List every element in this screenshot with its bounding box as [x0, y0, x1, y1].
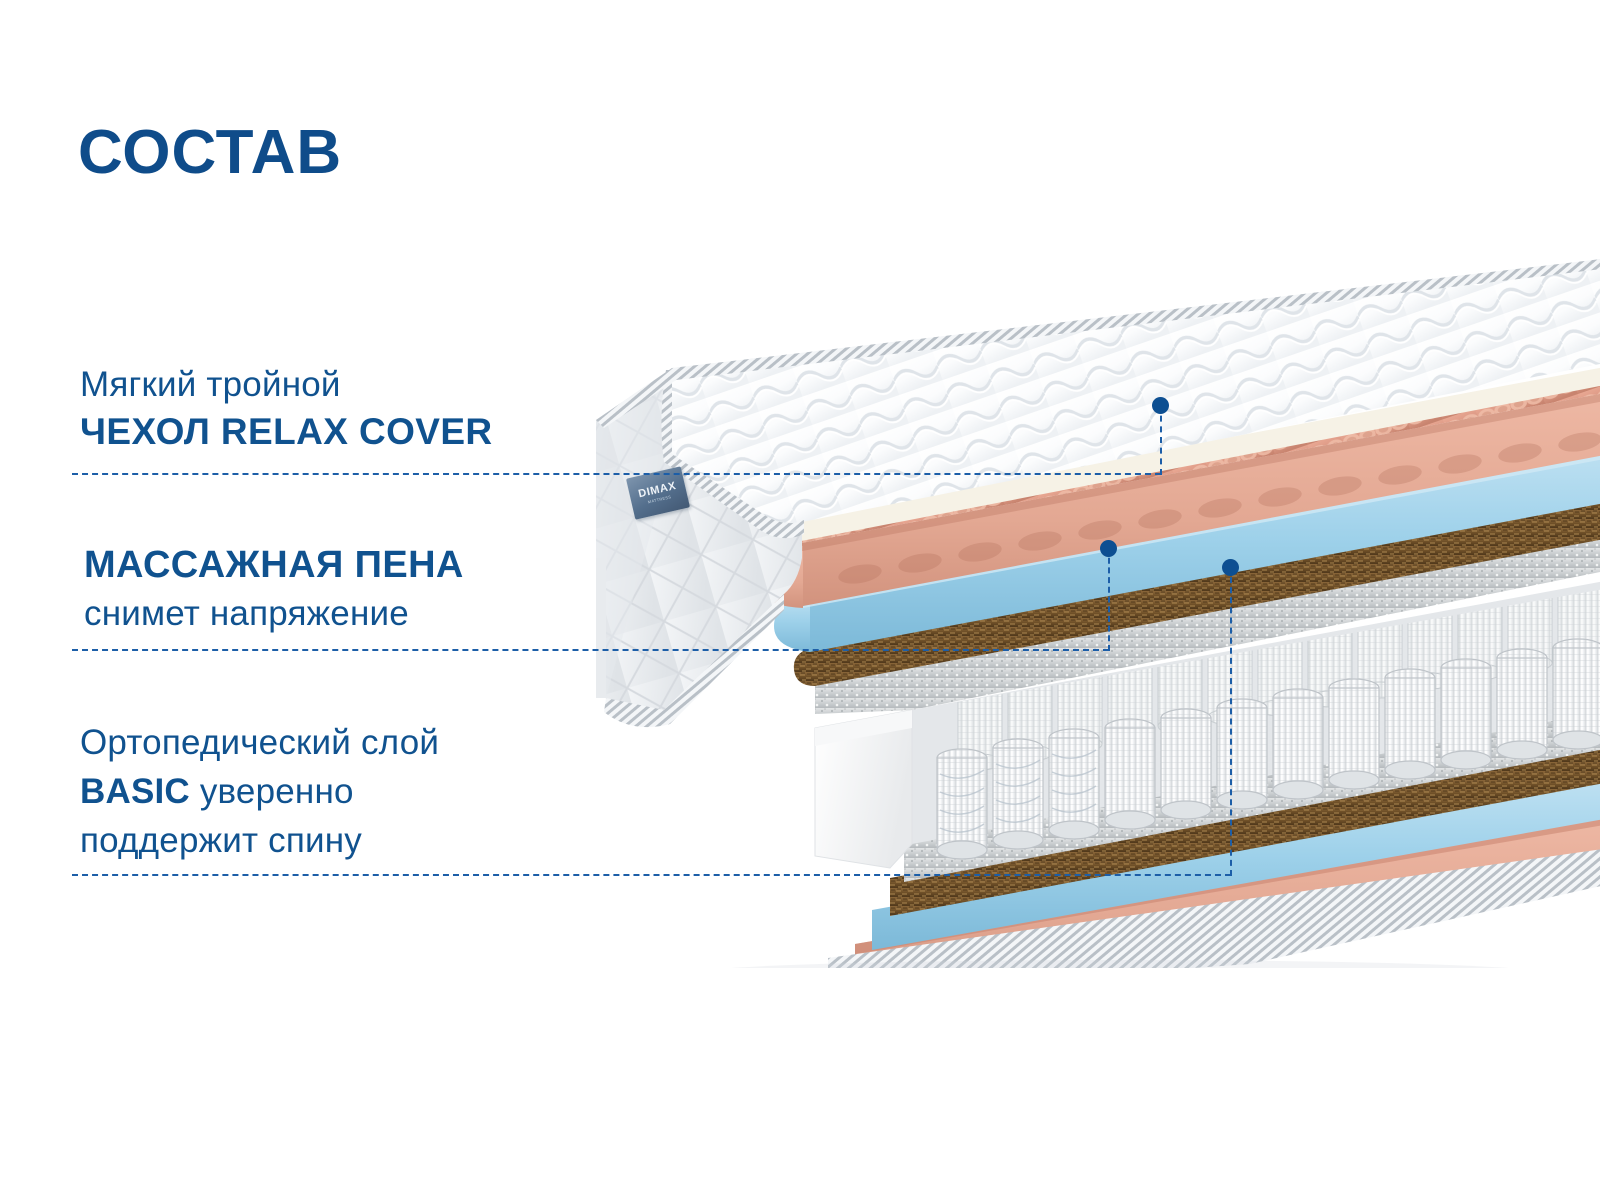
callout-dot-basic — [1222, 559, 1239, 576]
callout-basic-line2: BASIC уверенно — [80, 767, 439, 816]
leader-line-basic-vertical — [1230, 567, 1232, 876]
leader-line-foam-vertical — [1108, 548, 1110, 651]
callout-massage-foam: МАССАЖНАЯ ПЕНА снимет напряжение — [84, 540, 464, 638]
callout-cover-line2: ЧЕХОЛ RELAX COVER — [80, 408, 493, 456]
callout-basic-emphasis: BASIC — [80, 772, 190, 811]
callout-basic-line2-rest: уверенно — [190, 772, 354, 811]
callout-basic-line1: Ортопедический слой — [80, 718, 439, 767]
callout-foam-line2: снимет напряжение — [84, 590, 464, 638]
callout-cover: Мягкий тройной ЧЕХОЛ RELAX COVER — [80, 362, 493, 456]
callout-foam-line1: МАССАЖНАЯ ПЕНА — [84, 540, 464, 590]
poster-canvas: СОСТАВ — [0, 0, 1600, 1200]
leader-line-cover-vertical — [1160, 405, 1162, 475]
leader-line-cover-horizontal — [72, 473, 1161, 475]
leader-line-basic-horizontal — [72, 874, 1231, 876]
callout-dot-foam — [1100, 540, 1117, 557]
callout-basic-line3: поддержит спину — [80, 816, 439, 865]
leader-line-foam-horizontal — [72, 649, 1109, 651]
mattress-cutaway-illustration — [560, 258, 1600, 968]
callout-dot-cover — [1152, 397, 1169, 414]
callout-basic-layer: Ортопедический слой BASIC уверенно подде… — [80, 718, 439, 865]
page-title: СОСТАВ — [78, 122, 342, 184]
callout-cover-line1: Мягкий тройной — [80, 362, 493, 408]
